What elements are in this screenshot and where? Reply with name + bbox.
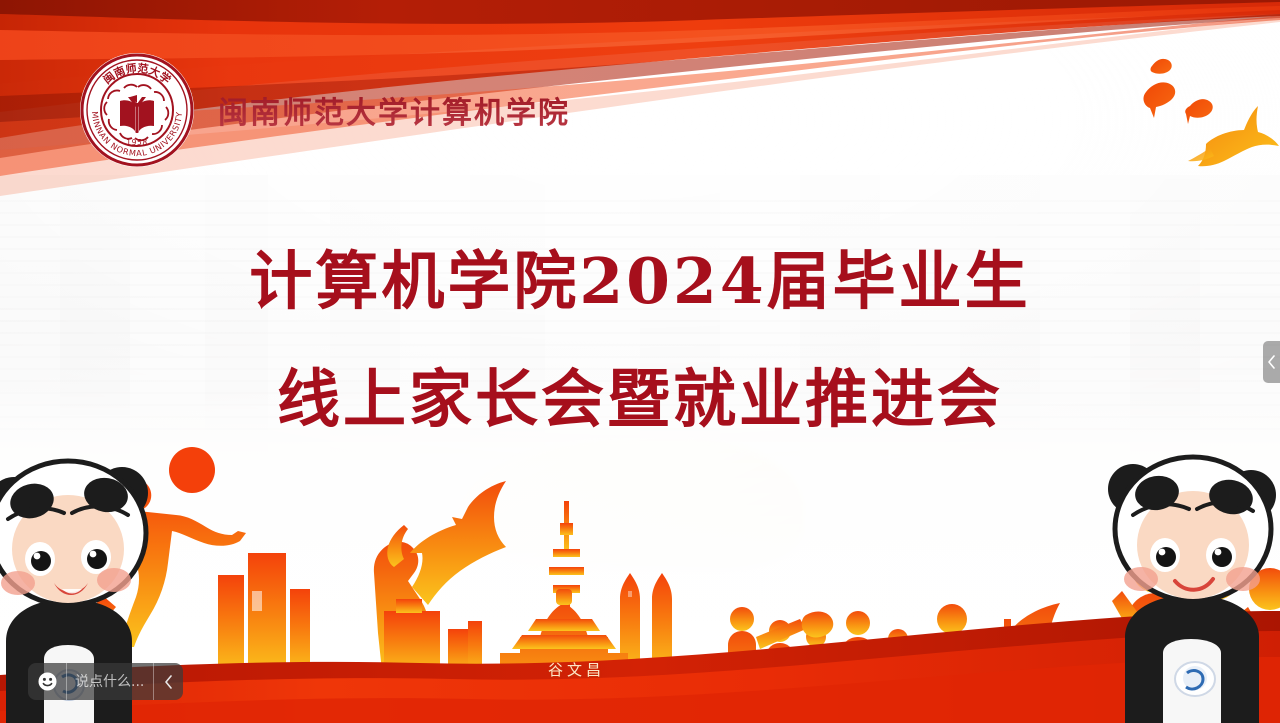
university-seal-icon: 1958 闽南师范大学 MINNAN NORMAL UNIVERSITY [78,51,196,169]
svg-text:1958: 1958 [126,138,148,147]
chat-message-input[interactable] [66,663,153,700]
side-panel-toggle[interactable] [1263,341,1280,383]
chevron-left-icon [1267,355,1276,369]
slide-stage: 谷文昌 [0,0,1280,723]
emoji-smiley-icon[interactable] [28,663,66,700]
chat-input-bar[interactable] [28,663,183,700]
chat-collapse-button[interactable] [153,663,183,700]
brand-bar: 1958 闽南师范大学 MINNAN NORMAL UNIVERSITY 闽南师… [0,40,700,180]
organization-name: 闽南师范大学计算机学院 [218,88,570,132]
chevron-left-icon [164,675,173,689]
